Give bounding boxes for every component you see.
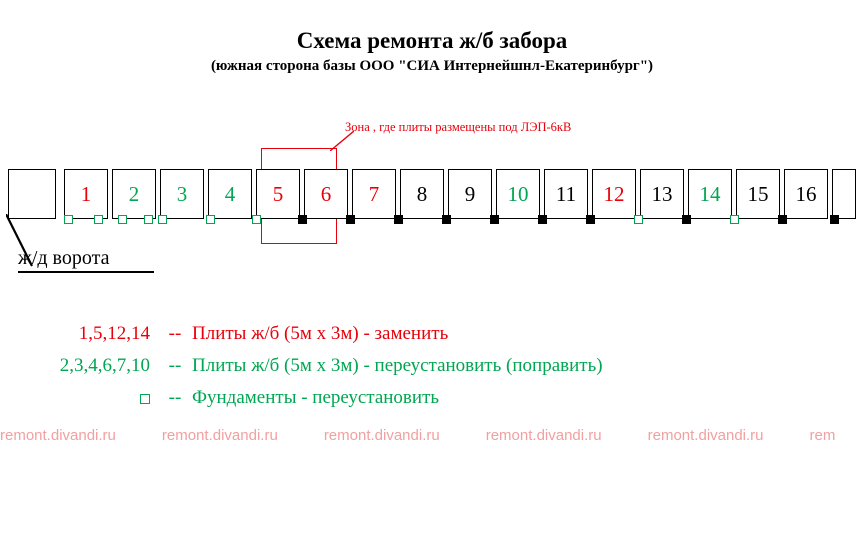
legend-row-foundations: -- Фундаменты - переустановить	[0, 382, 864, 414]
foundation-marker-black	[538, 215, 547, 224]
foundation-marker-black	[586, 215, 595, 224]
watermark-text-truncated: rem	[810, 427, 864, 444]
watermark-text: remont.divandi.ru	[324, 427, 486, 444]
fence-panel-label: 14	[700, 184, 721, 205]
page-title: Схема ремонта ж/б забора	[0, 28, 864, 54]
fence-panel-label: 11	[556, 184, 576, 205]
legend-text: Плиты ж/б (5м х 3м) - переустановить (по…	[192, 355, 603, 377]
foundation-marker-black	[298, 215, 307, 224]
fence-panel-16[interactable]: 16	[784, 169, 828, 219]
foundation-marker-green	[94, 215, 103, 224]
legend-dash: --	[158, 323, 192, 345]
fence-panel-end	[832, 169, 856, 219]
foundation-marker-green	[158, 215, 167, 224]
fence-panel-2[interactable]: 2	[112, 169, 156, 219]
legend-text: Фундаменты - переустановить	[192, 387, 439, 409]
gate-label: ж/д ворота	[18, 247, 109, 270]
watermark-text: remont.divandi.ru	[162, 427, 324, 444]
foundation-marker-black	[830, 215, 839, 224]
foundation-marker-black	[778, 215, 787, 224]
foundation-marker-black	[682, 215, 691, 224]
fence-panel-label: 10	[508, 184, 529, 205]
legend-row-reinstall: 2,3,4,6,7,10 -- Плиты ж/б (5м х 3м) - пе…	[0, 350, 864, 382]
fence-panel-label: 2	[129, 184, 140, 205]
legend-row-replace: 1,5,12,14 -- Плиты ж/б (5м х 3м) - замен…	[0, 318, 864, 350]
fence-panel-1[interactable]: 1	[64, 169, 108, 219]
page-subtitle: (южная сторона базы ООО "СИА Интернейшнл…	[0, 58, 864, 75]
fence-panel-label: 15	[748, 184, 769, 205]
fence-panel-5[interactable]: 5	[256, 169, 300, 219]
gate-label-underline	[18, 271, 154, 273]
fence-panel-label: 6	[321, 184, 332, 205]
fence-panel-label: 13	[652, 184, 673, 205]
foundation-marker-green	[144, 215, 153, 224]
zone-annotation-label: Зона , где плиты размещены под ЛЭП-6кВ	[345, 120, 571, 135]
fence-panel-14[interactable]: 14	[688, 169, 732, 219]
fence-panel-11[interactable]: 11	[544, 169, 588, 219]
foundation-marker-green	[118, 215, 127, 224]
watermark-text: remont.divandi.ru	[648, 427, 810, 444]
legend-dash: --	[158, 355, 192, 377]
fence-panel-12[interactable]: 12	[592, 169, 636, 219]
fence-panel-label: 9	[465, 184, 476, 205]
foundation-marker-black	[442, 215, 451, 224]
fence-panel-gate	[8, 169, 56, 219]
fence-panel-label: 1	[81, 184, 92, 205]
fence-panel-4[interactable]: 4	[208, 169, 252, 219]
fence-panel-label: 3	[177, 184, 188, 205]
legend: 1,5,12,14 -- Плиты ж/б (5м х 3м) - замен…	[0, 318, 864, 414]
fence-diagram: 1 2 3 4 5 6 7 8 9 10 11 12 13 14 15 16	[8, 169, 856, 219]
foundation-marker-black	[346, 215, 355, 224]
foundation-marker-green	[252, 215, 261, 224]
fence-panel-8[interactable]: 8	[400, 169, 444, 219]
foundation-marker-black	[490, 215, 499, 224]
foundation-swatch-icon	[140, 394, 150, 404]
watermark-text: remont.divandi.ru	[486, 427, 648, 444]
fence-panel-label: 16	[796, 184, 817, 205]
fence-panel-label: 5	[273, 184, 284, 205]
watermark-text: remont.divandi.ru	[0, 427, 162, 444]
fence-panel-label: 4	[225, 184, 236, 205]
legend-key: 1,5,12,14	[0, 323, 158, 345]
fence-panel-10[interactable]: 10	[496, 169, 540, 219]
fence-panel-label: 12	[604, 184, 625, 205]
foundation-marker-green	[206, 215, 215, 224]
fence-panel-9[interactable]: 9	[448, 169, 492, 219]
foundation-marker-green	[64, 215, 73, 224]
fence-panel-label: 8	[417, 184, 428, 205]
fence-panel-label: 7	[369, 184, 380, 205]
fence-panel-3[interactable]: 3	[160, 169, 204, 219]
fence-panel-13[interactable]: 13	[640, 169, 684, 219]
fence-panel-7[interactable]: 7	[352, 169, 396, 219]
foundation-marker-green	[634, 215, 643, 224]
fence-panel-6[interactable]: 6	[304, 169, 348, 219]
legend-dash: --	[158, 387, 192, 409]
legend-text: Плиты ж/б (5м х 3м) - заменить	[192, 323, 448, 345]
foundation-marker-black	[394, 215, 403, 224]
watermark-strip: remont.divandi.ru remont.divandi.ru remo…	[0, 424, 864, 446]
fence-panel-15[interactable]: 15	[736, 169, 780, 219]
legend-key-swatch	[0, 387, 158, 409]
legend-key: 2,3,4,6,7,10	[0, 355, 158, 377]
foundation-marker-green	[730, 215, 739, 224]
